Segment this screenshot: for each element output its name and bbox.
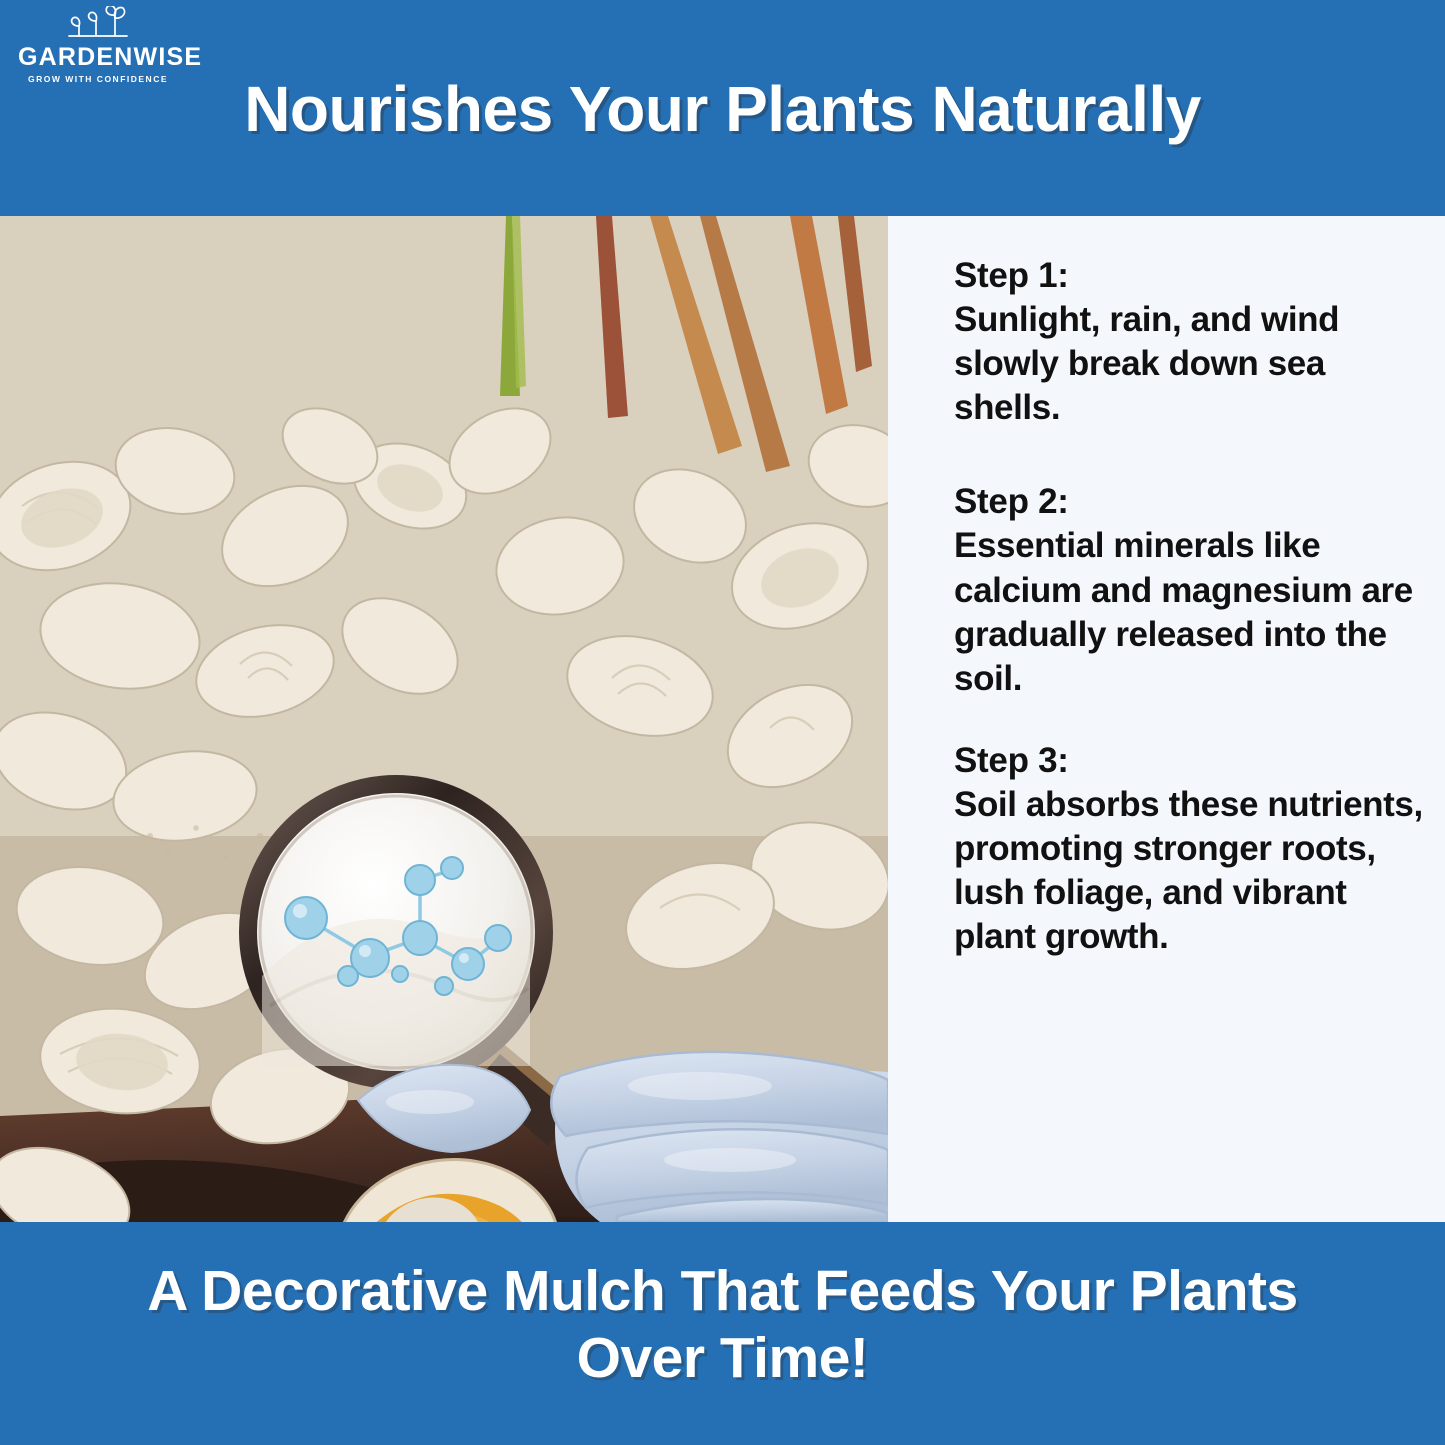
brand-name: GARDENWISE [18,44,178,70]
step-1-body: Sunlight, rain, and wind slowly break do… [954,298,1423,430]
content-row: Step 1: Sunlight, rain, and wind slowly … [0,216,1445,1222]
sprout-row-icon [59,6,137,42]
step-1: Step 1: Sunlight, rain, and wind slowly … [954,254,1423,430]
photo-illustration [0,216,888,1222]
step-3-body: Soil absorbs these nutrients, promoting … [954,783,1423,959]
step-1-title: Step 1: [954,254,1423,298]
step-2: Step 2: Essential minerals like calcium … [954,480,1423,700]
bottom-banner: A Decorative Mulch That Feeds Your Plant… [0,1222,1445,1445]
footer-tagline-line-1: A Decorative Mulch That Feeds Your Plant… [0,1258,1445,1325]
infographic-page: GARDENWISE GROW WITH CONFIDENCE Nourishe… [0,0,1445,1445]
top-banner: GARDENWISE GROW WITH CONFIDENCE Nourishe… [0,0,1445,216]
page-headline: Nourishes Your Plants Naturally [0,72,1445,146]
footer-tagline-line-2: Over Time! [0,1325,1445,1392]
step-3-title: Step 3: [954,739,1423,783]
step-2-body: Essential minerals like calcium and magn… [954,524,1423,700]
step-2-title: Step 2: [954,480,1423,524]
steps-panel: Step 1: Sunlight, rain, and wind slowly … [888,216,1445,1222]
step-3: Step 3: Soil absorbs these nutrients, pr… [954,739,1423,959]
footer-tagline: A Decorative Mulch That Feeds Your Plant… [0,1258,1445,1393]
product-photo [0,216,888,1222]
